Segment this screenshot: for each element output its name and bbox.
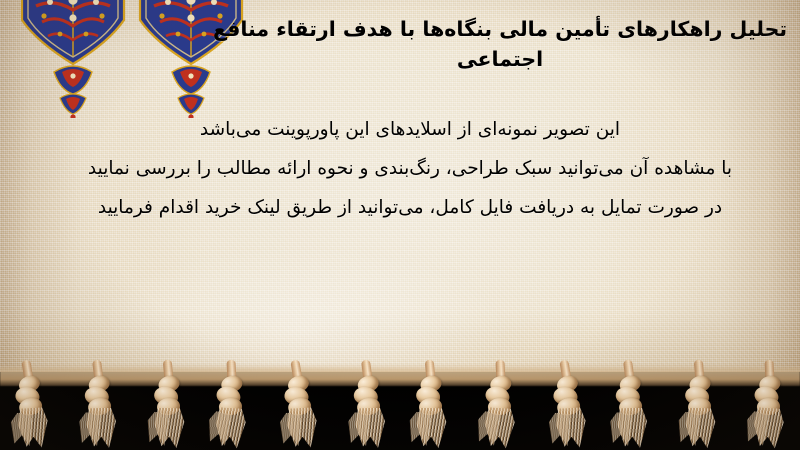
tassel xyxy=(402,359,460,450)
tassel xyxy=(538,358,599,450)
tassel xyxy=(602,359,660,450)
tassel xyxy=(738,358,799,450)
slide-body-line: در صورت تمایل به دریافت فایل کامل، می‌تو… xyxy=(40,188,780,227)
knotted-tassel-fringe xyxy=(0,360,800,450)
tassel xyxy=(340,359,398,450)
slide-title: تحلیل راهکارهای تأمین مالی بنگاه‌ها با ه… xyxy=(210,14,790,74)
tassel xyxy=(269,358,330,450)
slide-body-line: این تصویر نمونه‌ای از اسلایدهای این پاور… xyxy=(40,110,780,149)
tassel xyxy=(469,358,530,450)
slide-title-line: تحلیل راهکارهای تأمین مالی بنگاه‌ها با ه… xyxy=(213,17,787,41)
tassel xyxy=(71,359,129,450)
tassel xyxy=(140,359,198,450)
slide-body-line: با مشاهده آن می‌توانید سبک طراحی، رنگ‌بن… xyxy=(40,149,780,188)
tassel xyxy=(671,359,729,450)
tassel xyxy=(201,358,262,450)
slide-body-text: این تصویر نمونه‌ای از اسلایدهای این پاور… xyxy=(40,110,780,227)
presentation-slide: تحلیل راهکارهای تأمین مالی بنگاه‌ها با ه… xyxy=(0,0,800,450)
slide-title-line: اجتماعی xyxy=(457,47,543,71)
tassel xyxy=(1,358,62,450)
